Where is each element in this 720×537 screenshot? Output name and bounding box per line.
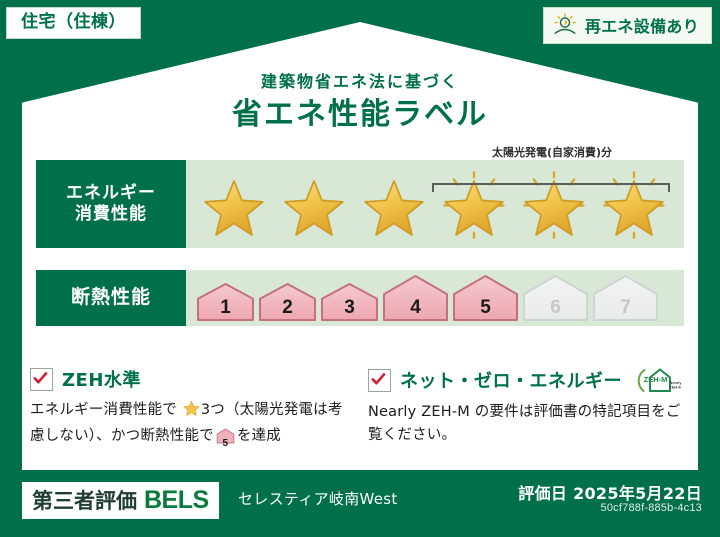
insulation-level-number: 4 xyxy=(382,297,449,319)
insulation-level-7: 7 xyxy=(592,274,659,322)
energy-label-line2: 消費性能 xyxy=(75,204,147,225)
checkbox-zeh-standard[interactable] xyxy=(30,368,53,391)
house-level-icon: 5 xyxy=(216,428,235,452)
insulation-scale: 1 2 3 xyxy=(186,270,684,326)
criteria-left-text-1: エネルギー消費性能で xyxy=(30,402,177,418)
insulation-label: 断熱性能 xyxy=(36,270,186,326)
insulation-level-2: 2 xyxy=(258,282,317,322)
bels-badge: 第三者評価 BELS xyxy=(22,482,219,519)
insulation-level-number: 3 xyxy=(320,297,379,319)
criteria-net-zero-energy: ネット・ゼロ・エネルギー ZEH-M Nearly ZEH-M Nearly Z… xyxy=(368,366,690,447)
energy-performance-label: 住宅（住棟） 再エネ設備あり 建築物省エネ法に基づく 省エネ性能ラベル xyxy=(0,0,720,537)
svg-text:ZEH-M: ZEH-M xyxy=(644,375,668,384)
insulation-performance-row: 断熱性能 1 2 xyxy=(36,270,684,326)
insulation-level-5: 5 xyxy=(452,274,519,322)
house-level-number: 5 xyxy=(216,436,235,452)
footer: 第三者評価 BELS セレスティア岐南West 評価日 2025年5月22日 5… xyxy=(0,470,720,537)
insulation-level-3: 3 xyxy=(320,282,379,322)
star-3 xyxy=(354,164,434,244)
insulation-scale-panel: 1 2 3 xyxy=(186,270,684,326)
zeh-m-logo: ZEH-M Nearly ZEH-M xyxy=(637,366,681,394)
energy-consumption-row: エネルギー 消費性能 太陽光発電(自家消費)分 xyxy=(36,160,684,248)
renewable-equipment-badge: 再エネ設備あり xyxy=(543,7,712,44)
criteria-left-title: ZEH水準 xyxy=(62,366,141,392)
star-icon xyxy=(178,405,200,421)
insulation-level-number: 6 xyxy=(522,297,589,319)
insulation-level-number: 1 xyxy=(196,297,255,319)
bels-badge-en: BELS xyxy=(144,486,209,515)
evaluation-date: 評価日 2025年5月22日 xyxy=(518,480,702,504)
building-name: セレスティア岐南West xyxy=(238,488,398,509)
criteria-right-title: ネット・ゼロ・エネルギー xyxy=(400,367,622,393)
insulation-level-1: 1 xyxy=(196,282,255,322)
solar-sun-icon xyxy=(552,12,578,38)
star-2 xyxy=(274,164,354,244)
energy-label-line1: エネルギー xyxy=(66,183,156,204)
bels-badge-jp: 第三者評価 xyxy=(32,485,137,515)
checkbox-net-zero-energy[interactable] xyxy=(368,369,391,392)
label-title: 省エネ性能ラベル xyxy=(0,89,720,133)
criteria-right-body: Nearly ZEH-M の要件は評価書の特記項目をご覧ください。 xyxy=(368,401,690,447)
energy-star-panel: 太陽光発電(自家消費)分 xyxy=(186,160,684,248)
evaluation-id: 50cf788f-885b-4c13 xyxy=(601,502,702,514)
criteria-left-header: ZEH水準 xyxy=(30,366,350,392)
svg-text:ZEH-M: ZEH-M xyxy=(669,385,681,390)
solar-bracket-caption: 太陽光発電(自家消費)分 xyxy=(418,144,686,160)
criteria-left-text-3: を達成 xyxy=(237,428,281,444)
renewable-badge-label: 再エネ設備あり xyxy=(585,13,699,37)
insulation-level-number: 7 xyxy=(592,297,659,319)
criteria-right-header: ネット・ゼロ・エネルギー ZEH-M Nearly ZEH-M xyxy=(368,366,690,394)
criteria-zeh-standard: ZEH水準 エネルギー消費性能で 3つ（太陽光発電は考慮しない）、かつ断熱性能で… xyxy=(30,366,350,452)
insulation-level-6: 6 xyxy=(522,274,589,322)
insulation-level-number: 2 xyxy=(258,297,317,319)
criteria-left-body: エネルギー消費性能で 3つ（太陽光発電は考慮しない）、かつ断熱性能で 5を達成 xyxy=(30,399,350,452)
star-1 xyxy=(194,164,274,244)
insulation-level-4: 4 xyxy=(382,274,449,322)
category-tag: 住宅（住棟） xyxy=(6,7,141,39)
solar-bracket xyxy=(432,162,670,188)
energy-consumption-label: エネルギー 消費性能 xyxy=(36,160,186,248)
insulation-level-number: 5 xyxy=(452,297,519,319)
